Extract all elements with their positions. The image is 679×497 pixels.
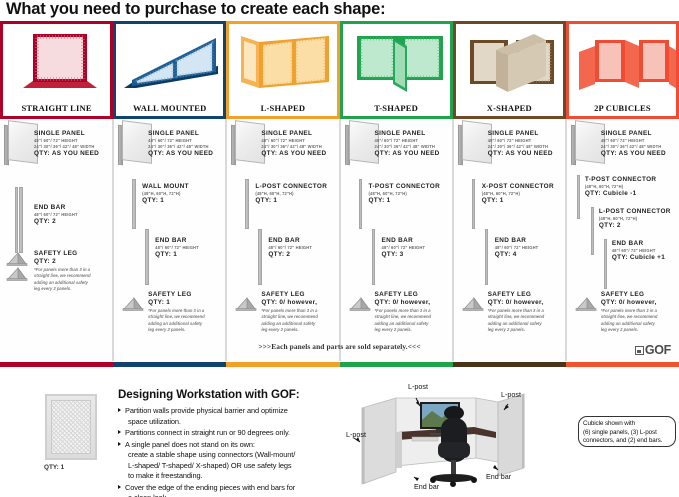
- l-post-connector-icon: [245, 179, 252, 229]
- end-bar-icon: [15, 187, 22, 253]
- t-post-connector-icon: [359, 179, 366, 229]
- end-bar-title: END BAR: [155, 237, 199, 245]
- bullet-line: Partition walls provide physical barrier…: [125, 406, 336, 417]
- shape-card-x-shaped[interactable]: X-SHAPED: [453, 21, 566, 119]
- safety-leg-icon: [575, 297, 597, 311]
- color-strip-segment-x-shaped: [453, 362, 566, 367]
- safety-leg-title: SAFETY LEG: [34, 250, 94, 258]
- single-panel-qty: QTY: AS YOU NEED: [375, 150, 440, 159]
- cubicle-callout: Cubicle shown with (6) single panels, (3…: [578, 416, 676, 447]
- connector-qty: QTY: 1: [482, 197, 554, 206]
- connector-qty: QTY: 1: [255, 197, 327, 206]
- bullet-line: create a stable shape using connectors (…: [125, 450, 336, 461]
- list-item: Cover the edge of the ending pieces with…: [118, 483, 336, 497]
- single-panel-title: SINGLE PANEL: [601, 130, 666, 138]
- bullet-line: Cover the edge of the ending pieces with…: [125, 483, 336, 494]
- bottom-panel-qty: QTY: 1: [44, 464, 64, 471]
- bullet-line: Partitions connect in straight run or 90…: [125, 428, 336, 439]
- cubicle-label-l-post: L-post: [408, 382, 428, 391]
- 2p-cubicles-shape-icon: [569, 26, 679, 98]
- gof-logo: GOF: [635, 343, 671, 357]
- safety-leg-qty: QTY: 2: [34, 258, 94, 267]
- parts-column-2p-cubicles: SINGLE PANEL 48"/ 60"/ 72" HEIGHT 24"/ 3…: [566, 119, 679, 361]
- safety-leg-icon: [6, 252, 28, 266]
- safety-leg-note: *For panels more than 3 in a straight li…: [261, 308, 321, 334]
- shape-card-2p-cubicles[interactable]: 2P CUBICLES: [566, 21, 679, 119]
- sold-separately-note: >>>Each panels and parts are sold separa…: [0, 342, 679, 351]
- parts-column-straight-line: SINGLE PANEL 48"/ 60"/ 72" HEIGHT 24"/ 3…: [0, 119, 113, 361]
- list-item: Partitions connect in straight run or 90…: [118, 428, 336, 439]
- safety-leg-icon: [235, 297, 257, 311]
- end-bar-qty: QTY: 3: [382, 251, 426, 260]
- end-bar-title: END BAR: [612, 240, 665, 248]
- straight-line-shape-icon: [3, 26, 113, 98]
- safety-leg-qty: QTY: 0/ however,: [601, 299, 661, 308]
- connector-title: L-POST CONNECTOR: [599, 208, 671, 216]
- end-bar-icon: [145, 229, 152, 285]
- end-bar-title: END BAR: [268, 237, 312, 245]
- shape-label: WALL MOUNTED: [116, 103, 223, 113]
- callout-line: (6) single panels, (3) L-post: [583, 429, 671, 438]
- shape-label: 2P CUBICLES: [569, 103, 676, 113]
- bullet-triangle-icon: [118, 430, 121, 434]
- safety-leg-title: SAFETY LEG: [261, 291, 321, 299]
- connector-title: L-POST CONNECTOR: [255, 183, 327, 191]
- color-strip-segment-straight-line: [0, 362, 113, 367]
- t-shaped-shape-icon: [343, 26, 453, 98]
- bullet-line: a clean look.: [125, 493, 336, 497]
- single-panel-qty: QTY: AS YOU NEED: [601, 150, 666, 159]
- end-bar-qty: QTY: 4: [495, 251, 539, 260]
- end-bar-icon: [372, 229, 379, 285]
- safety-leg-icon: [6, 267, 28, 281]
- bullet-line: A single panel does not stand on its own…: [125, 440, 336, 451]
- shape-label: T-SHAPED: [343, 103, 450, 113]
- color-strip-segment-2p-cubicles: [566, 362, 679, 367]
- safety-leg-title: SAFETY LEG: [375, 291, 435, 299]
- bullet-triangle-icon: [118, 485, 121, 489]
- connector-title: X-POST CONNECTOR: [482, 183, 554, 191]
- single-panel-qty: QTY: AS YOU NEED: [34, 150, 99, 159]
- parts-column-t-shaped: SINGLE PANEL 48"/ 60"/ 72" HEIGHT 24"/ 3…: [340, 119, 453, 361]
- parts-table: SINGLE PANEL 48"/ 60"/ 72" HEIGHT 24"/ 3…: [0, 119, 679, 361]
- bottom-section: QTY: 1 Designing Workstation with GOF: P…: [0, 372, 679, 497]
- connector-qty: QTY: 1: [142, 197, 189, 206]
- shape-card-straight-line[interactable]: STRAIGHT LINE: [0, 21, 113, 119]
- single-panel-qty: QTY: AS YOU NEED: [488, 150, 553, 159]
- callout-line: connectors, and (2) end bars.: [583, 437, 671, 446]
- cubicle-label-end-bar: End bar: [414, 482, 439, 491]
- wall-mount-connector-icon: [132, 179, 139, 229]
- single-panel-title: SINGLE PANEL: [488, 130, 553, 138]
- safety-leg-note: *For panels more than 3 in a straight li…: [601, 308, 661, 334]
- bullet-triangle-icon: [118, 442, 121, 446]
- safety-leg-icon: [349, 297, 371, 311]
- connector-qty: QTY: 2: [599, 222, 671, 231]
- end-bar-qty: QTY: 1: [155, 251, 199, 260]
- shape-label: L-SHAPED: [229, 103, 336, 113]
- shape-label: STRAIGHT LINE: [3, 103, 110, 113]
- cubicle-label-end-bar: End bar: [486, 472, 511, 481]
- list-item: Partition walls provide physical barrier…: [118, 406, 336, 427]
- safety-leg-note: *For panels more than 3 in a straight li…: [488, 308, 548, 334]
- parts-column-l-shaped: SINGLE PANEL 48"/ 60"/ 72" HEIGHT 24"/ 3…: [226, 119, 339, 361]
- safety-leg-icon: [462, 297, 484, 311]
- shape-cards-row: STRAIGHT LINE WALL MOUNTED: [0, 21, 679, 119]
- design-section-title: Designing Workstation with GOF:: [118, 388, 300, 401]
- connector-title: T-POST CONNECTOR: [585, 176, 657, 184]
- end-bar-qty: QTY: 2: [268, 251, 312, 260]
- end-bar-title: END BAR: [495, 237, 539, 245]
- bullet-line: L-shaped/ T-shaped/ X-shaped) OR use saf…: [125, 461, 336, 472]
- list-item: A single panel does not stand on its own…: [118, 440, 336, 482]
- cubicle-photo-icon: [338, 380, 578, 497]
- safety-leg-qty: QTY: 0/ however,: [261, 299, 321, 308]
- end-bar-qty: QTY: Cubicle +1: [612, 254, 665, 263]
- l-post-connector-icon: [591, 207, 598, 255]
- shape-card-l-shaped[interactable]: L-SHAPED: [226, 21, 339, 119]
- single-panel-title: SINGLE PANEL: [375, 130, 440, 138]
- t-post-connector-icon: [577, 175, 584, 219]
- safety-leg-qty: QTY: 1: [148, 299, 208, 308]
- x-shaped-shape-icon: [456, 26, 566, 98]
- cubicle-label-l-post: L-post: [501, 390, 521, 399]
- end-bar-qty: QTY: 2: [34, 218, 78, 227]
- safety-leg-qty: QTY: 0/ however,: [488, 299, 548, 308]
- infographic-root: What you need to purchase to create each…: [0, 0, 679, 497]
- wall-mounted-shape-icon: [116, 26, 226, 98]
- shape-card-wall-mounted[interactable]: WALL MOUNTED: [113, 21, 226, 119]
- single-panel-title: SINGLE PANEL: [261, 130, 326, 138]
- color-strip-segment-l-shaped: [226, 362, 339, 367]
- safety-leg-title: SAFETY LEG: [148, 291, 208, 299]
- bullet-line: to make it freestanding.: [125, 471, 336, 482]
- shape-label: X-SHAPED: [456, 103, 563, 113]
- safety-leg-qty: QTY: 0/ however,: [375, 299, 435, 308]
- connector-title: T-POST CONNECTOR: [369, 183, 441, 191]
- safety-leg-note: *For panels more than 3 in a straight li…: [34, 267, 94, 293]
- single-panel-title: SINGLE PANEL: [148, 130, 213, 138]
- l-shaped-shape-icon: [229, 26, 339, 98]
- bullet-line: space utilization.: [125, 417, 336, 428]
- gof-logo-text: GOF: [645, 343, 671, 357]
- gof-logo-mark-icon: [635, 346, 644, 355]
- parts-column-wall-mounted: SINGLE PANEL 48"/ 60"/ 72" HEIGHT 24"/ 3…: [113, 119, 226, 361]
- callout-line: Cubicle shown with: [583, 420, 671, 429]
- end-bar-title: END BAR: [34, 204, 78, 212]
- single-panel-qty: QTY: AS YOU NEED: [148, 150, 213, 159]
- safety-leg-note: *For panels more than 3 in a straight li…: [375, 308, 435, 334]
- end-bar-icon: [485, 229, 492, 285]
- safety-leg-icon: [122, 297, 144, 311]
- safety-leg-title: SAFETY LEG: [488, 291, 548, 299]
- shape-card-t-shaped[interactable]: T-SHAPED: [340, 21, 453, 119]
- parts-column-x-shaped: SINGLE PANEL 48"/ 60"/ 72" HEIGHT 24"/ 3…: [453, 119, 566, 361]
- end-bar-icon: [258, 229, 265, 285]
- single-panel-qty: QTY: AS YOU NEED: [261, 150, 326, 159]
- end-bar-title: END BAR: [382, 237, 426, 245]
- color-strip-segment-t-shaped: [340, 362, 453, 367]
- bottom-panel-image: [45, 394, 97, 460]
- connector-qty: QTY: Cubicle -1: [585, 190, 657, 199]
- connector-qty: QTY: 1: [369, 197, 441, 206]
- single-panel-title: SINGLE PANEL: [34, 130, 99, 138]
- page-title: What you need to purchase to create each…: [6, 0, 385, 19]
- color-strip-segment-wall-mounted: [113, 362, 226, 367]
- cubicle-label-l-post: L-post: [346, 430, 366, 439]
- connector-title: WALL MOUNT: [142, 183, 189, 191]
- bullet-triangle-icon: [118, 408, 121, 412]
- end-bar-icon: [604, 239, 611, 289]
- design-bullet-list: Partition walls provide physical barrier…: [118, 406, 336, 497]
- cubicle-illustration: L-post L-post L-post End bar End bar Cub…: [338, 380, 679, 497]
- safety-leg-note: *For panels more than 3 in a straight li…: [148, 308, 208, 334]
- color-strip: [0, 362, 679, 367]
- safety-leg-title: SAFETY LEG: [601, 291, 661, 299]
- x-post-connector-icon: [472, 179, 479, 229]
